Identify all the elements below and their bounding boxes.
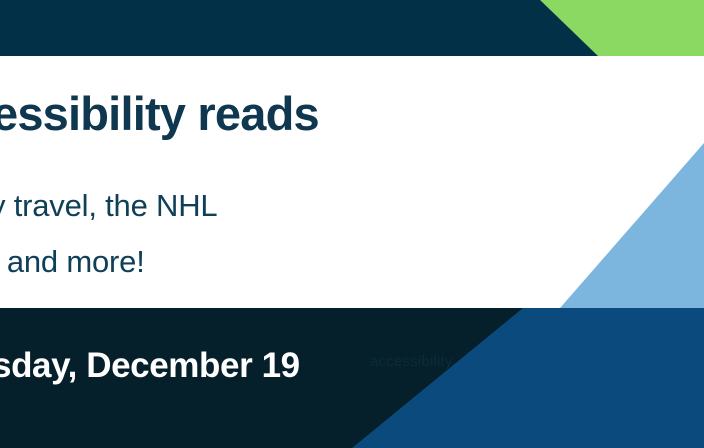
promo-banner: accessibility essibility reads y travel,…: [0, 0, 704, 448]
background-shapes: [0, 0, 704, 448]
